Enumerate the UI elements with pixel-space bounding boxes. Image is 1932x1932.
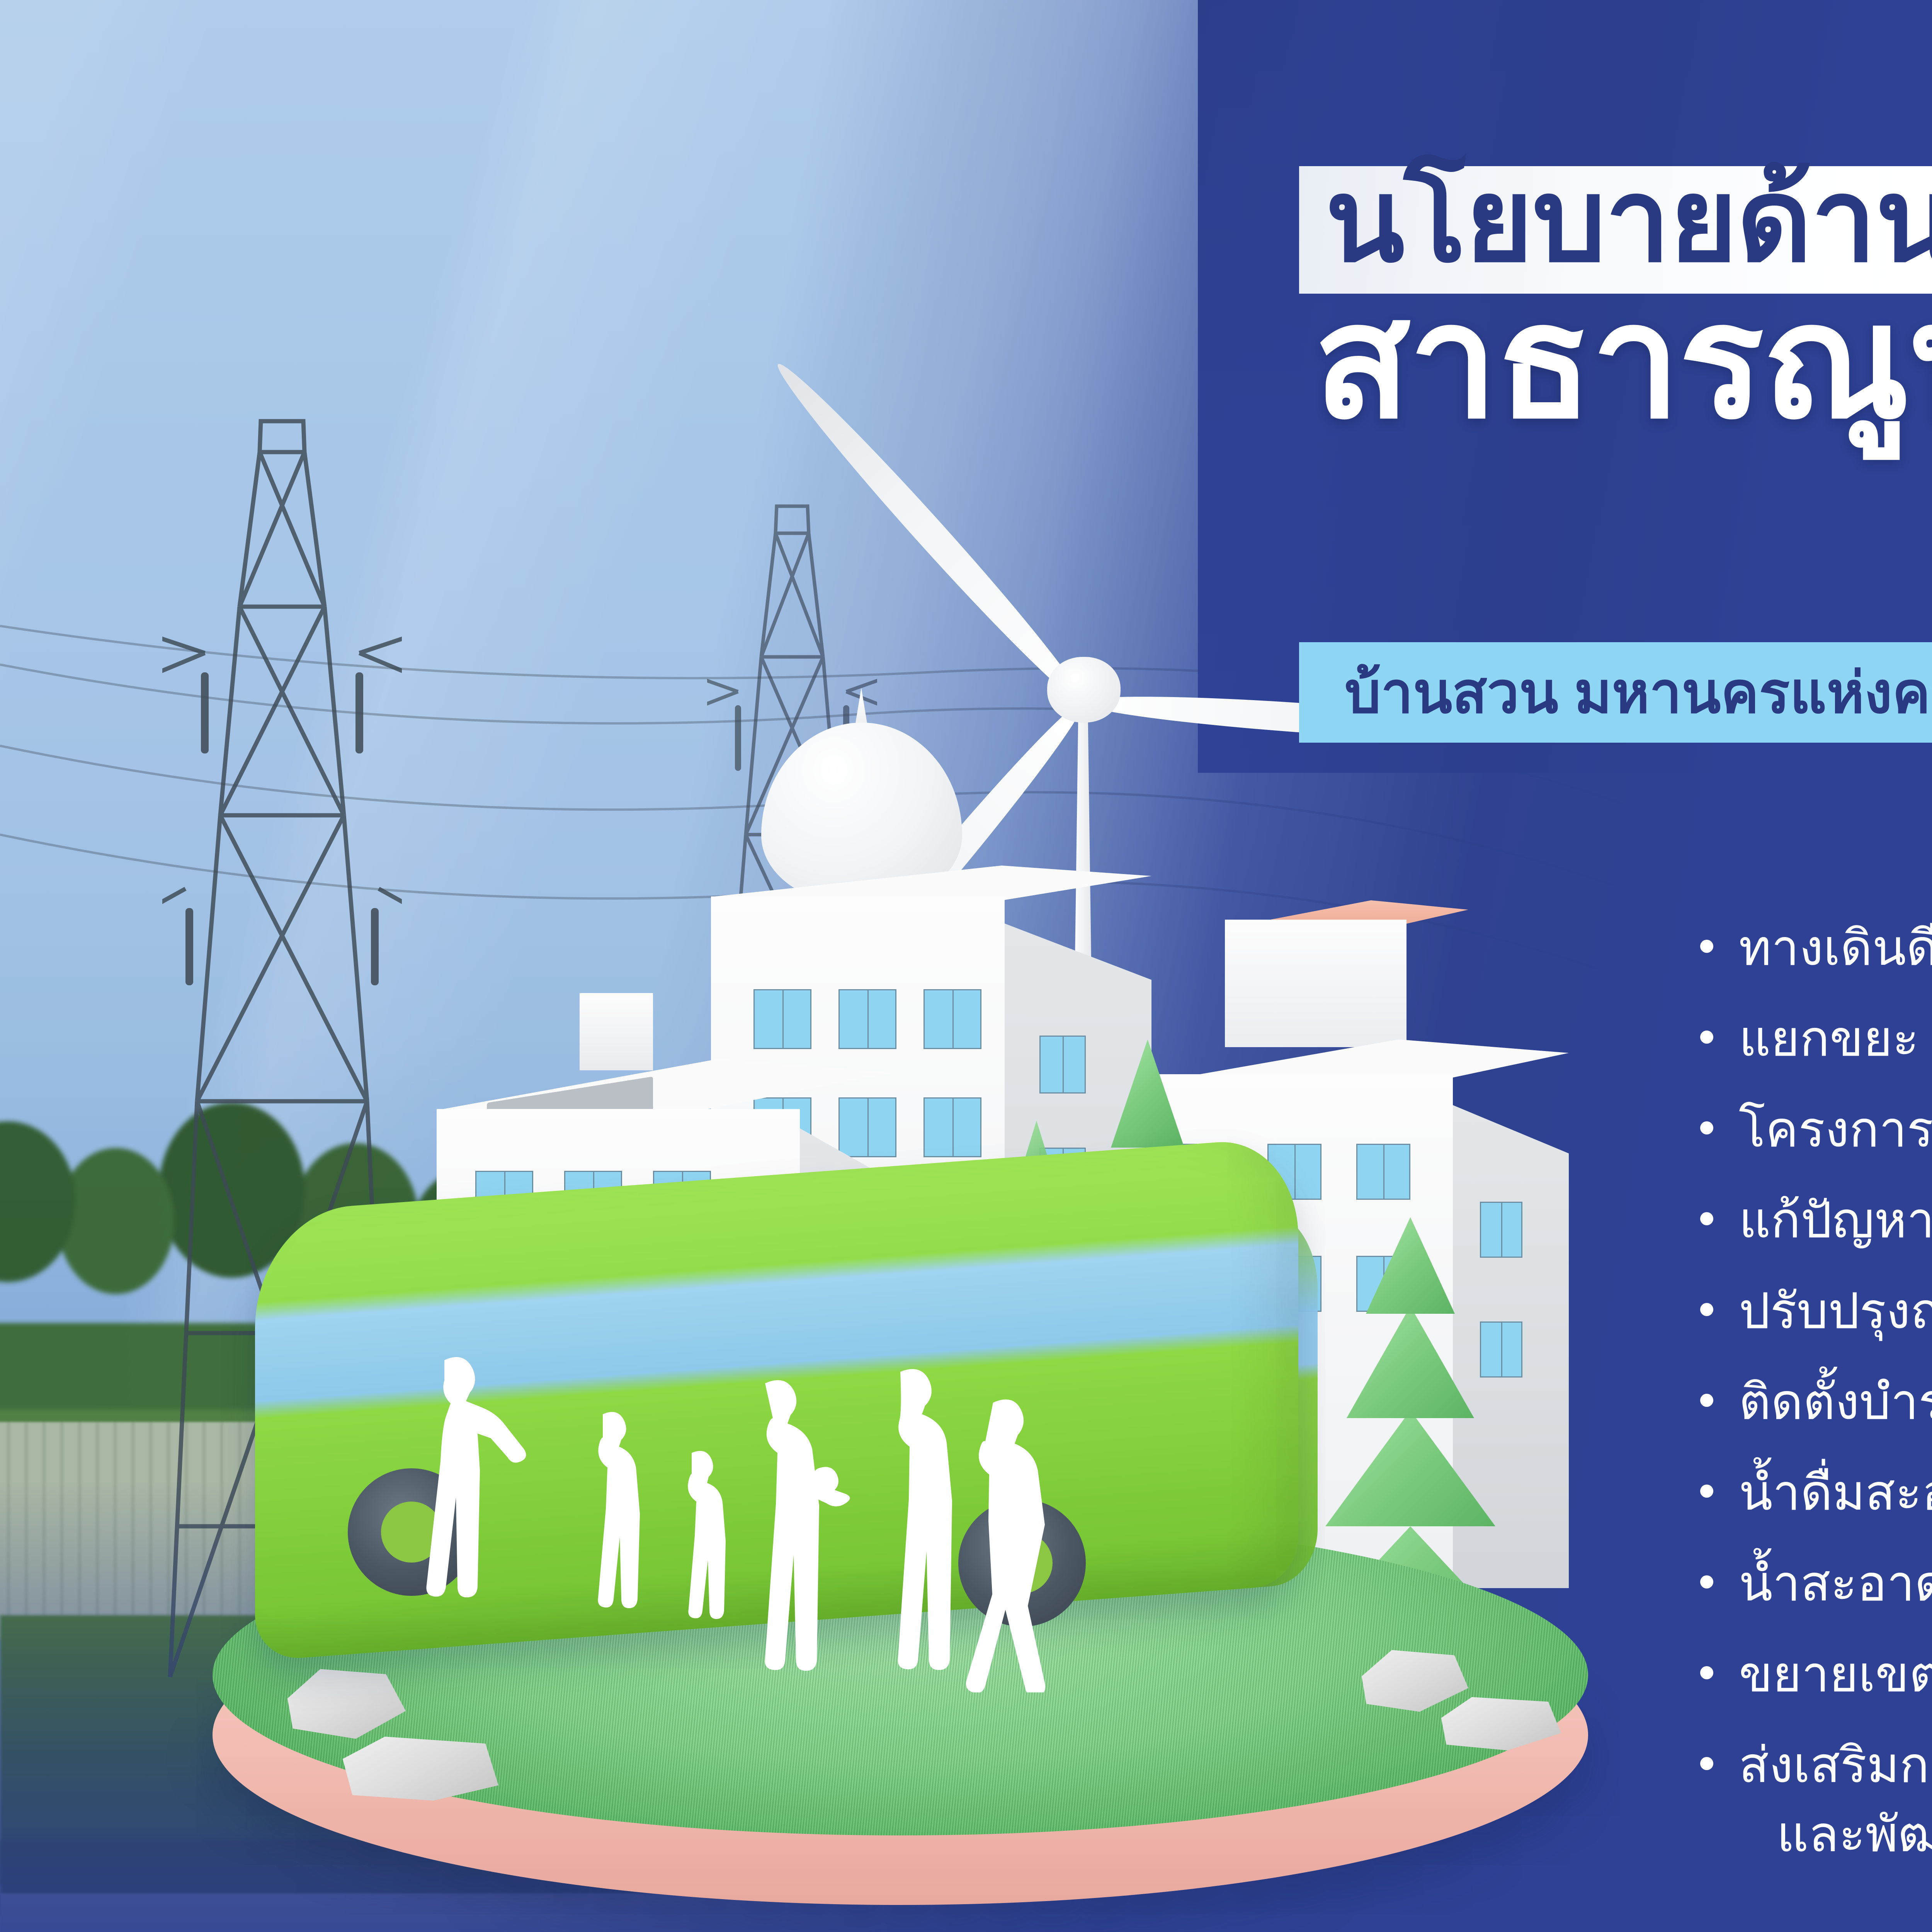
subtitle-text: บ้านสวน มหานครแห่งความสะดวกสบาย — [1345, 642, 1932, 743]
list-item: แก้ปัญหาน้ำท่วม รถติด (แอพฯแจ้งสถานะรถติ… — [1700, 1188, 1932, 1253]
bullet-dot-icon — [1700, 1212, 1713, 1225]
list-item: แยกขยะ สร้างรายได้ (แอพฯ เก็บขยะ) — [1700, 1007, 1932, 1072]
list-item-label: แก้ปัญหาน้ำท่วม รถติด (แอพฯแจ้งสถานะรถติ… — [1739, 1188, 1932, 1253]
list-item-label: ส่งเสริมการท่องเที่ยวทางรถไฟ เชิงอนุรักษ… — [1739, 1733, 1932, 1798]
list-item-label: โครงการทอด ไม่ทิ้ง (แอพฯ เพิ่มมูลค่า) — [1739, 1097, 1932, 1163]
bullet-dot-icon — [1700, 1485, 1713, 1498]
bullet-dot-icon — [1700, 1575, 1713, 1588]
bullet-dot-icon — [1700, 1757, 1713, 1770]
poster-canvas: นโยบายด้าน สาธารณูปโภ — [0, 0, 1932, 1932]
bullet-dot-icon — [1700, 1394, 1713, 1407]
policy-bullet-list: ทางเดินดี/ปรับภูมิทัศน์ สถาปัตย์สวยงาม แ… — [1700, 916, 1932, 1867]
list-item: ทางเดินดี/ปรับภูมิทัศน์ สถาปัตย์สวยงาม — [1700, 916, 1932, 981]
page-title-line2: สาธารณูปโภ — [1314, 278, 1932, 444]
list-item: น้ำสะอาดดื่ม สะอาดใช้ — [1700, 1551, 1932, 1617]
list-item-label: ทางเดินดี/ปรับภูมิทัศน์ สถาปัตย์สวยงาม — [1739, 916, 1932, 981]
list-item-continuation: และพัฒนาพื้นที่เพื่อรองรับ โครงการ EEC — [1777, 1802, 1932, 1867]
list-item-label: ขยายเขตประปาและจัดการน้ำเสีย — [1739, 1642, 1932, 1708]
bullet-dot-icon — [1700, 1121, 1713, 1134]
list-item: ส่งเสริมการท่องเที่ยวทางรถไฟ เชิงอนุรักษ… — [1700, 1733, 1932, 1798]
list-item: ติดตั้งบำรุงระบบไฟฟ้าส่องสว่างอัจฉริยะ — [1700, 1370, 1932, 1435]
list-item: โครงการทอด ไม่ทิ้ง (แอพฯ เพิ่มมูลค่า) — [1700, 1097, 1932, 1163]
list-item: ขยายเขตประปาและจัดการน้ำเสีย — [1700, 1642, 1932, 1708]
bullet-dot-icon — [1700, 1666, 1713, 1679]
bullet-dot-icon — [1700, 940, 1713, 953]
list-item-label: แยกขยะ สร้างรายได้ (แอพฯ เก็บขยะ) — [1739, 1007, 1932, 1072]
bullet-dot-icon — [1700, 1303, 1713, 1316]
list-item-label: ติดตั้งบำรุงระบบไฟฟ้าส่องสว่างอัจฉริยะ — [1739, 1370, 1932, 1435]
page-title-line1: นโยบายด้าน — [1325, 156, 1932, 284]
list-item-label: ปรับปรุงถนนทางเท้าเดินสะดวก และปรับปรุงร… — [1739, 1279, 1932, 1344]
list-item: ปรับปรุงถนนทางเท้าเดินสะดวก และปรับปรุงร… — [1700, 1279, 1932, 1344]
list-item-label: น้ำสะอาดดื่ม สะอาดใช้ — [1739, 1551, 1932, 1617]
bullet-dot-icon — [1700, 1031, 1713, 1044]
list-item: น้ำดื่มสะอาดทั่วถึงทุกชุมชน — [1700, 1461, 1932, 1526]
people-silhouette-icon — [386, 1337, 1121, 1692]
list-item-label: น้ำดื่มสะอาดทั่วถึงทุกชุมชน — [1739, 1461, 1932, 1526]
